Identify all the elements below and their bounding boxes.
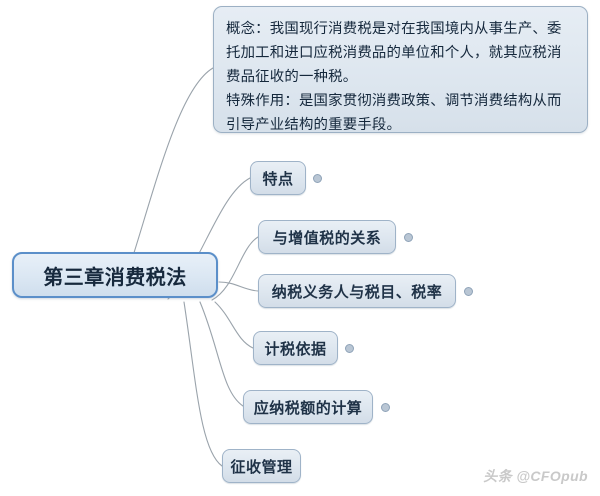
connector-to-branch-2 xyxy=(212,237,258,300)
expand-marker-icon-1[interactable] xyxy=(313,174,322,183)
mindmap-canvas: 概念：我国现行消费税是对在我国境内从事生产、委托加工和进口应税消费品的单位和个人… xyxy=(0,0,600,496)
branch-node-characteristics[interactable]: 特点 xyxy=(250,161,306,195)
concept-note-text: 概念：我国现行消费税是对在我国境内从事生产、委托加工和进口应税消费品的单位和个人… xyxy=(226,17,576,137)
branch-label-3: 纳税义务人与税目、税率 xyxy=(272,281,443,302)
branch-label-5: 应纳税额的计算 xyxy=(254,397,363,418)
root-node-label: 第三章消费税法 xyxy=(43,261,187,290)
connector-to-branch-5 xyxy=(200,302,243,406)
connector-to-branch-4 xyxy=(215,302,253,348)
connector-to-branch-6 xyxy=(184,302,222,466)
expand-marker-icon-5[interactable] xyxy=(381,403,390,412)
branch-node-payable-calculation[interactable]: 应纳税额的计算 xyxy=(243,390,373,424)
expand-marker-icon-2[interactable] xyxy=(404,233,413,242)
concept-note-box: 概念：我国现行消费税是对在我国境内从事生产、委托加工和进口应税消费品的单位和个人… xyxy=(213,6,588,133)
branch-label-2: 与增值税的关系 xyxy=(273,227,382,248)
branch-label-1: 特点 xyxy=(262,168,293,189)
connector-to-branch-3 xyxy=(219,282,258,291)
branch-label-6: 征收管理 xyxy=(230,456,292,477)
expand-marker-icon-4[interactable] xyxy=(345,344,354,353)
branch-node-tax-basis[interactable]: 计税依据 xyxy=(253,331,338,365)
branch-node-collection-management[interactable]: 征收管理 xyxy=(222,449,301,483)
branch-node-taxpayer-items-rates[interactable]: 纳税义务人与税目、税率 xyxy=(258,274,456,308)
watermark-text: 头条 @CFOpub xyxy=(483,466,588,486)
branch-node-vat-relation[interactable]: 与增值税的关系 xyxy=(258,220,396,254)
root-node[interactable]: 第三章消费税法 xyxy=(12,252,218,298)
expand-marker-icon-3[interactable] xyxy=(464,287,473,296)
branch-label-4: 计税依据 xyxy=(264,338,326,359)
